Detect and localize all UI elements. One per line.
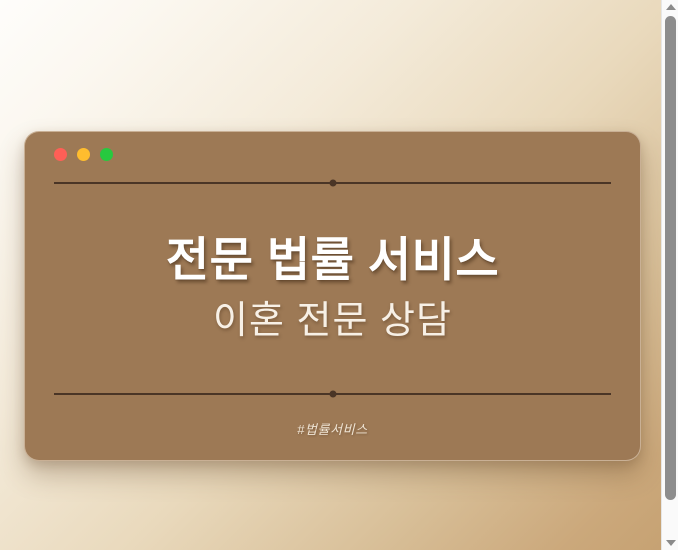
page-title: 전문 법률 서비스: [166, 234, 499, 286]
divider-node-icon: [329, 180, 336, 187]
maximize-button-dot[interactable]: [100, 148, 113, 161]
divider-top: [54, 182, 611, 184]
page-canvas: 전문 법률 서비스 이혼 전문 상담 #법률서비스: [0, 0, 661, 550]
minimize-button-dot[interactable]: [77, 148, 90, 161]
scroll-up-arrow-icon[interactable]: [662, 0, 678, 14]
card-content: 전문 법률 서비스 이혼 전문 상담 #법률서비스: [54, 176, 611, 438]
heading-block: 전문 법률 서비스 이혼 전문 상담: [54, 184, 611, 393]
vertical-scrollbar[interactable]: [661, 0, 678, 550]
page-subtitle: 이혼 전문 상담: [213, 300, 452, 344]
window-controls: [54, 148, 113, 161]
hashtag-label: #법률서비스: [297, 419, 368, 438]
scroll-down-arrow-icon[interactable]: [662, 536, 678, 550]
divider-node-icon: [329, 391, 336, 398]
scrollbar-thumb[interactable]: [665, 16, 676, 500]
service-card: 전문 법률 서비스 이혼 전문 상담 #법률서비스: [24, 131, 641, 461]
divider-bottom: [54, 393, 611, 395]
close-button-dot[interactable]: [54, 148, 67, 161]
